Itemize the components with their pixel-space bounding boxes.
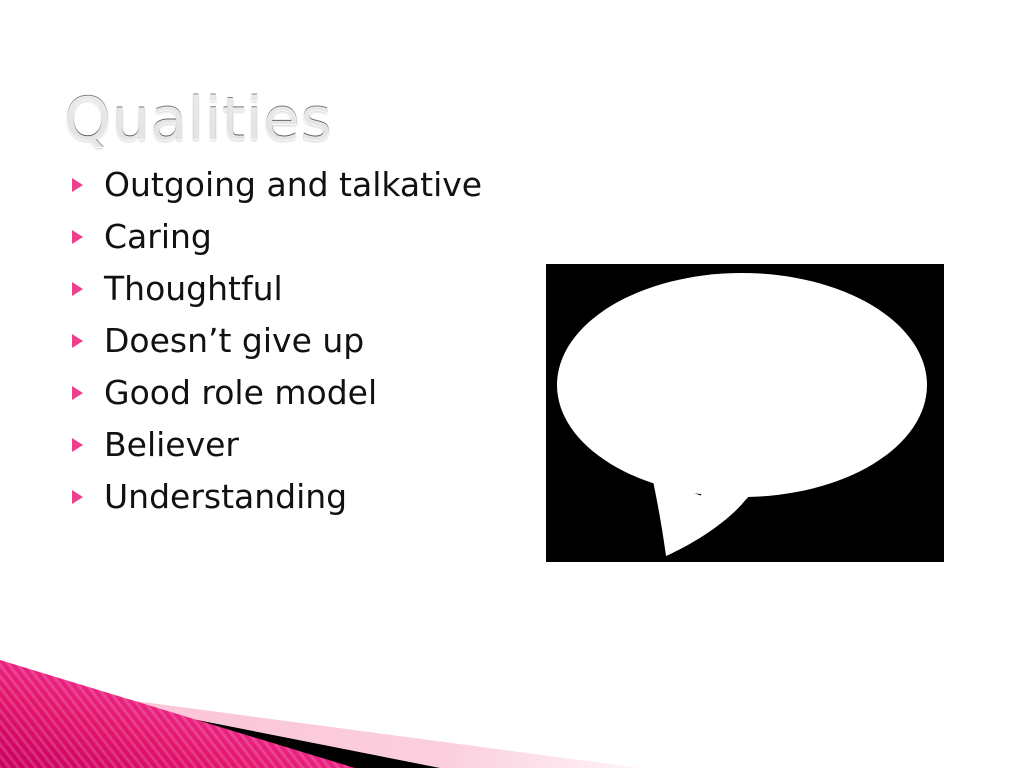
triangle-right-icon <box>72 230 83 244</box>
decoration-magenta-triangle <box>0 660 355 768</box>
triangle-right-icon <box>72 282 83 296</box>
list-item-label: Doesn’t give up <box>104 319 364 363</box>
corner-decoration <box>0 633 700 768</box>
speech-bubble-image <box>546 264 944 562</box>
qualities-list: Outgoing and talkative Caring Thoughtful… <box>64 163 534 527</box>
page-title: Qualities <box>64 88 332 151</box>
decoration-texture-overlay <box>0 660 355 768</box>
triangle-right-icon <box>72 334 83 348</box>
decoration-black-stripe <box>0 681 440 768</box>
triangle-right-icon <box>72 178 83 192</box>
list-item-label: Good role model <box>104 371 377 415</box>
list-item: Doesn’t give up <box>64 319 534 371</box>
list-item: Caring <box>64 215 534 267</box>
list-item: Good role model <box>64 371 534 423</box>
triangle-right-icon <box>72 490 83 504</box>
list-item-label: Outgoing and talkative <box>104 163 482 207</box>
triangle-right-icon <box>72 386 83 400</box>
list-item: Believer <box>64 423 534 475</box>
decoration-pink-band <box>0 683 640 768</box>
list-item-label: Caring <box>104 215 212 259</box>
list-item-label: Thoughtful <box>104 267 283 311</box>
triangle-right-icon <box>72 438 83 452</box>
list-item-label: Understanding <box>104 475 347 519</box>
list-item: Outgoing and talkative <box>64 163 534 215</box>
list-item-label: Believer <box>104 423 239 467</box>
list-item: Thoughtful <box>64 267 534 319</box>
list-item: Understanding <box>64 475 534 527</box>
slide: Qualities Outgoing and talkative Caring … <box>0 0 1024 768</box>
